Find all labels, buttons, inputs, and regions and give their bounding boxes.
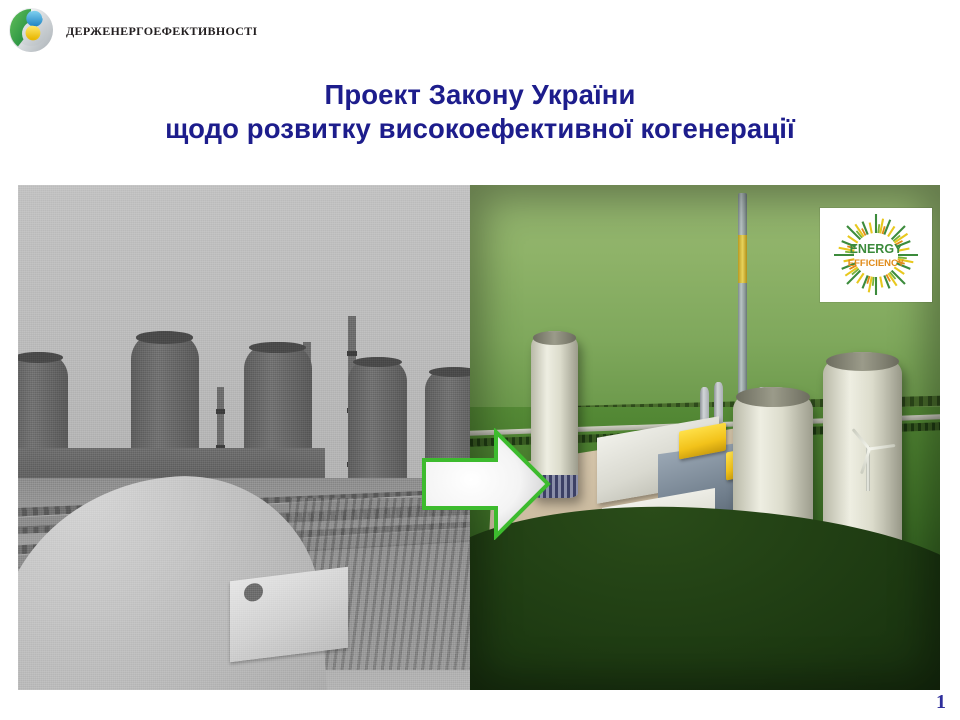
energy-efficiency-badge: ENERGY EFFICIENCY [820,208,932,302]
organisation-header: Держенергоефективності [6,4,258,56]
page-title-line-1: Проект Закону України [0,78,960,112]
old-coal-power-plant-photo [18,185,470,690]
badge-energy-text: ENERGY [850,242,903,256]
cg-wind-turbine [840,438,898,500]
page-title-line-2: щодо розвитку високоефективної когенерац… [0,112,960,146]
energy-swirl-logo-icon [6,6,58,54]
badge-efficiency-text: EFFICIENCY [848,258,905,269]
bw-concrete-block [230,567,348,662]
transition-arrow-icon [418,428,554,540]
page-number: 1 [936,691,946,714]
organisation-name: Держенергоефективності [66,20,258,40]
page-title: Проект Закону України щодо розвитку висо… [0,78,960,146]
